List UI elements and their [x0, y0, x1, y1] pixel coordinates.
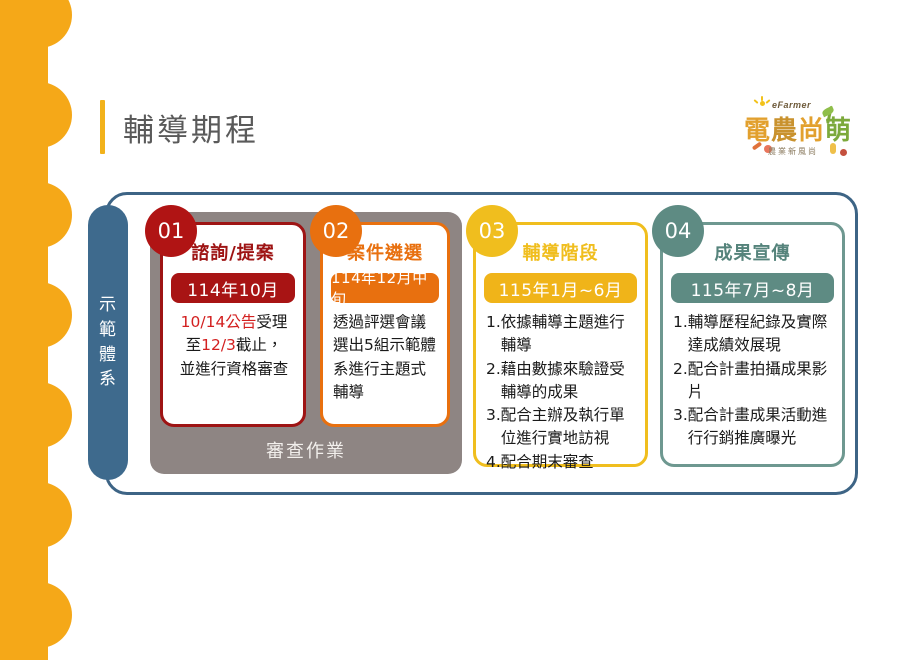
list-item: 3.配合計畫成果活動進行行銷推廣曝光 [673, 404, 834, 451]
list-item-number: 2. [486, 358, 501, 381]
card-body-segment: 12/3 [201, 336, 236, 354]
card-item-list: 1.依據輔導主題進行輔導2.藉由數據來驗證受輔導的成果3.配合主辦及執行單位進行… [486, 311, 637, 474]
timeline-card-04[interactable]: 成果宣傳 115年7月~8月 1.輔導歷程紀錄及實際達成績效展現2.配合計畫拍攝… [660, 222, 845, 467]
card-date-band: 115年1月~6月 [484, 273, 637, 303]
list-item: 2.藉由數據來驗證受輔導的成果 [486, 358, 637, 405]
logo-char-3: 尚 [798, 116, 825, 146]
list-item-text: 配合主辦及執行單位進行實地訪視 [501, 404, 637, 451]
scallop-bump [6, 282, 72, 348]
scallop-bump [6, 82, 72, 148]
list-item-number: 1. [673, 311, 688, 334]
card-date-band: 114年12月中旬 [331, 273, 439, 303]
sidebar-char-2: 範 [99, 318, 117, 343]
scallop-bump [6, 482, 72, 548]
page-title: 輔導期程 [100, 100, 259, 154]
list-item-number: 3. [486, 404, 501, 427]
logo-char-1: 電 [744, 116, 771, 146]
card-date-band: 115年7月~8月 [671, 273, 834, 303]
card-number-badge-03: 03 [466, 205, 518, 257]
sidebar-char-3: 體 [99, 343, 117, 368]
list-item: 1.依據輔導主題進行輔導 [486, 311, 637, 358]
list-item-number: 2. [673, 358, 688, 381]
card-body-segment: 並進行資格審查 [180, 360, 289, 378]
card-number-badge-01: 01 [145, 205, 197, 257]
card-body: 透過評選會議選出5組示範體系進行主題式輔導 [333, 311, 439, 404]
scallop-bump [6, 182, 72, 248]
list-item-number: 4. [486, 451, 501, 474]
card-body: 10/14公告受理至12/3截止，並進行資格審查 [173, 311, 295, 381]
list-item-text: 依據輔導主題進行輔導 [501, 311, 637, 358]
list-item-text: 藉由數據來驗證受輔導的成果 [501, 358, 637, 405]
slide-canvas: 輔導期程 eFarmer 電農尚萌 農業新風尚 示 範 體 系 審查作業 諮詢/… [0, 0, 900, 660]
list-item-text: 配合計畫拍攝成果影片 [688, 358, 834, 405]
list-item-number: 1. [486, 311, 501, 334]
scallop-decoration [0, 0, 78, 660]
review-group-label: 審查作業 [150, 437, 462, 463]
sidebar-label-pill: 示 範 體 系 [88, 205, 128, 480]
brand-logo: eFarmer 電農尚萌 農業新風尚 [742, 92, 860, 172]
list-item-number: 3. [673, 404, 688, 427]
card-date-band: 114年10月 [171, 273, 295, 303]
card-number-badge-02: 02 [310, 205, 362, 257]
title-accent-bar [100, 100, 105, 154]
list-item: 1.輔導歷程紀錄及實際達成績效展現 [673, 311, 834, 358]
corn-icon [830, 143, 836, 154]
logo-char-2: 農 [771, 116, 798, 146]
card-body-segment: 受理 [256, 313, 287, 331]
logo-subtitle: 農業新風尚 [768, 146, 818, 157]
page-title-text: 輔導期程 [123, 105, 259, 150]
card-item-list: 1.輔導歷程紀錄及實際達成績效展現2.配合計畫拍攝成果影片3.配合計畫成果活動進… [673, 311, 834, 451]
card-body-segment: 10/14公告 [181, 313, 257, 331]
scallop-bump [6, 382, 72, 448]
list-item-text: 配合計畫成果活動進行行銷推廣曝光 [688, 404, 834, 451]
logo-tagline: eFarmer [772, 100, 811, 110]
list-item: 3.配合主辦及執行單位進行實地訪視 [486, 404, 637, 451]
list-item-text: 輔導歷程紀錄及實際達成績效展現 [688, 311, 834, 358]
list-item: 2.配合計畫拍攝成果影片 [673, 358, 834, 405]
sidebar-char-4: 系 [99, 367, 117, 392]
sidebar-char-1: 示 [99, 293, 117, 318]
berry-icon [840, 149, 847, 156]
card-body-segment: 至 [186, 336, 202, 354]
card-body-segment: 截止， [236, 336, 283, 354]
list-item-text: 配合期末審查 [501, 451, 637, 474]
card-number-badge-04: 04 [652, 205, 704, 257]
scallop-bump [6, 582, 72, 648]
timeline-card-03[interactable]: 輔導階段 115年1月~6月 1.依據輔導主題進行輔導2.藉由數據來驗證受輔導的… [473, 222, 648, 467]
list-item: 4.配合期末審查 [486, 451, 637, 474]
